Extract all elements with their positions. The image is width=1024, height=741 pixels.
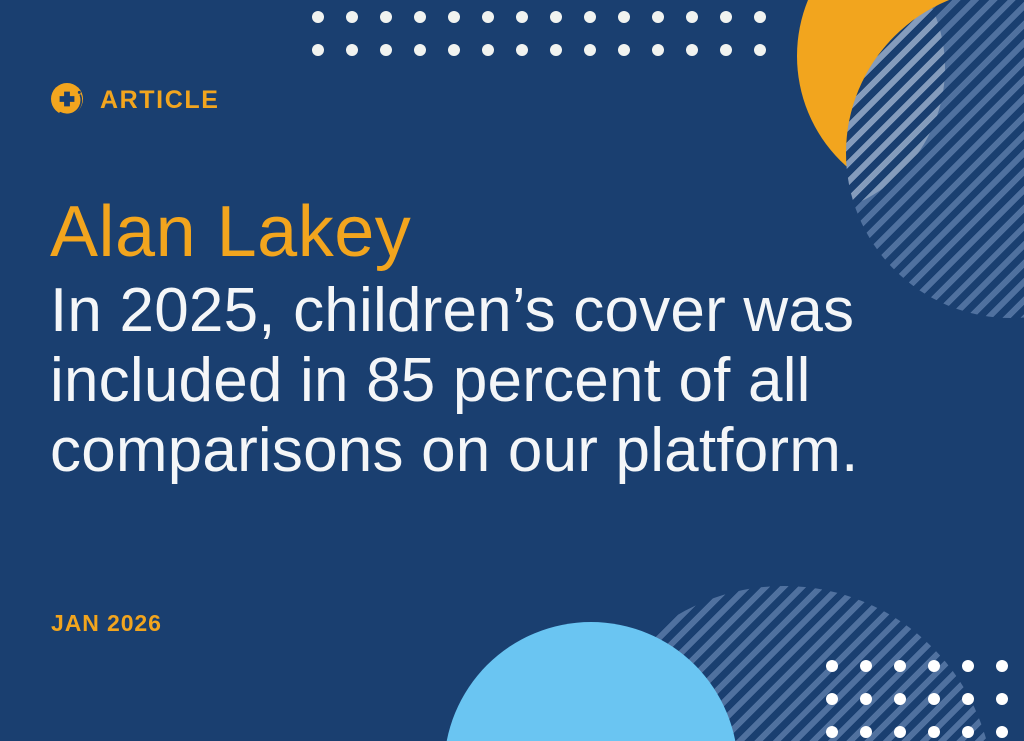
headline-text: In 2025, children’s cover was included i…: [50, 276, 870, 486]
brand-row: ARTICLE: [50, 82, 220, 118]
date-label: JAN 2026: [51, 610, 162, 637]
article-quote-card: ARTICLE Alan Lakey In 2025, children’s c…: [0, 0, 1024, 741]
article-label: ARTICLE: [100, 88, 220, 113]
author-name: Alan Lakey: [50, 196, 930, 268]
plus-circle-icon: [50, 82, 86, 118]
headline-block: Alan Lakey In 2025, children’s cover was…: [50, 196, 930, 486]
